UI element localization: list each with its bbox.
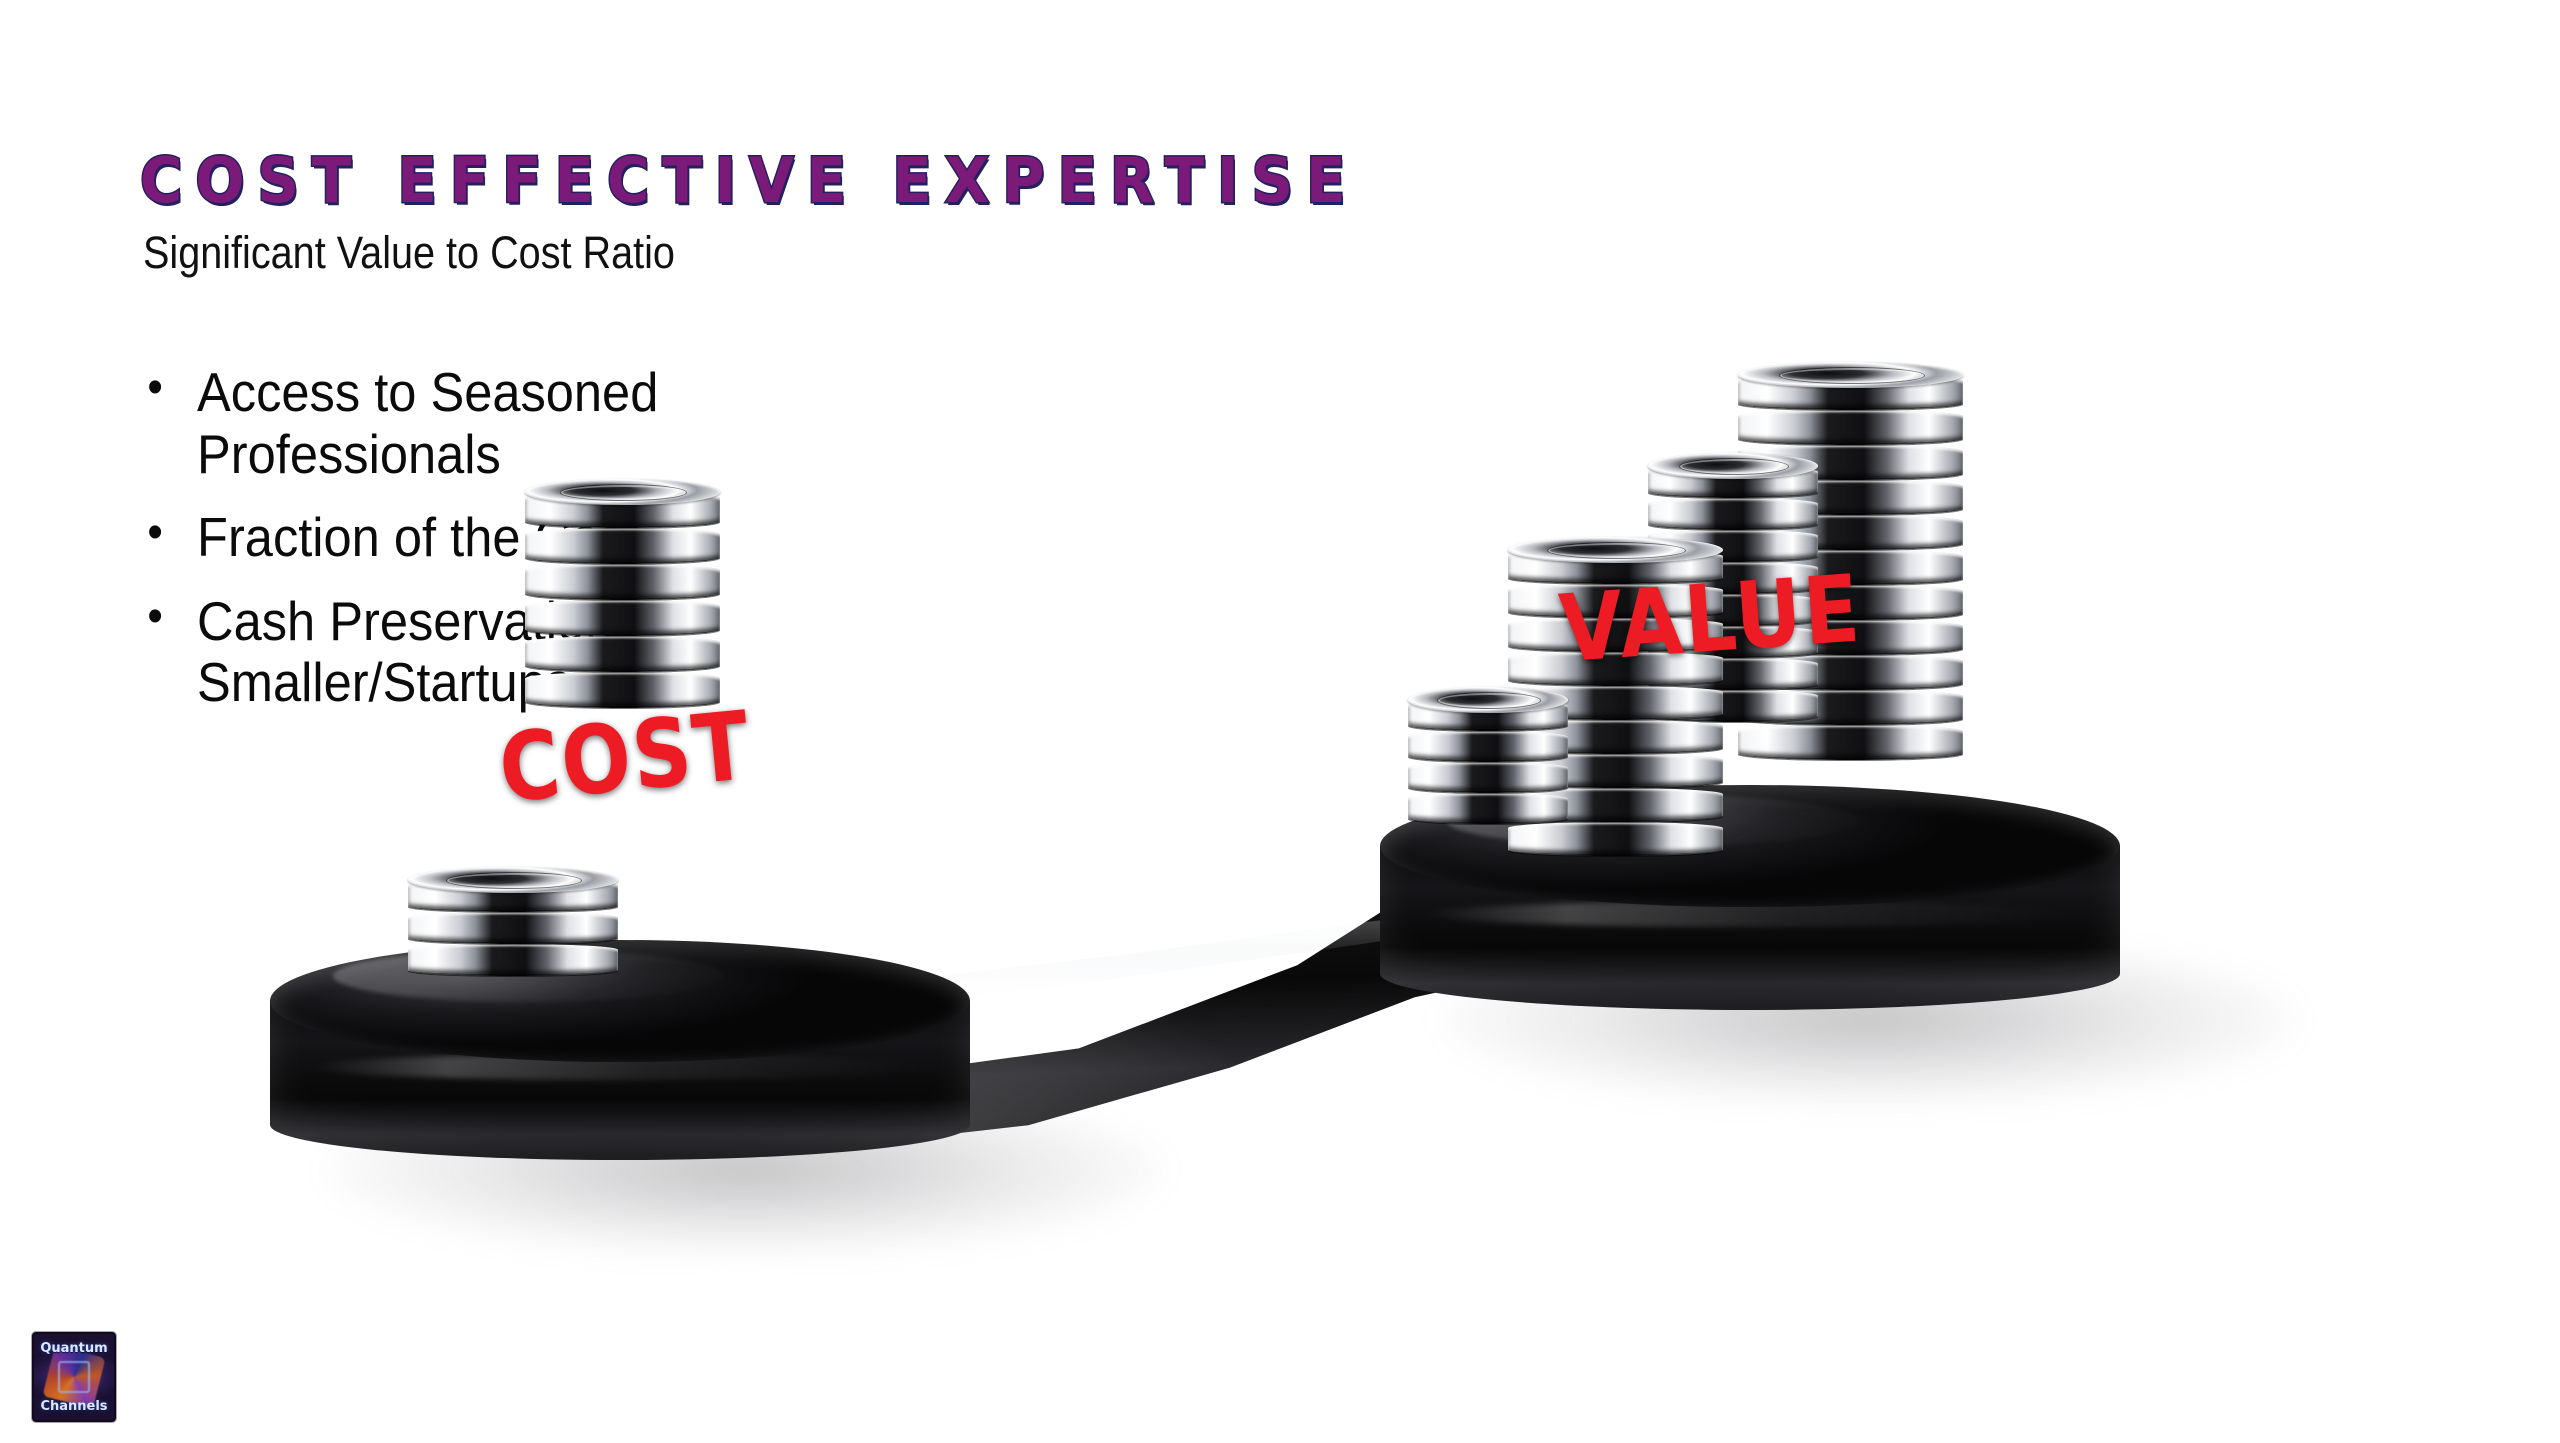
coin xyxy=(525,600,720,636)
coin-top-face xyxy=(1738,362,1963,388)
coin xyxy=(1738,375,1963,410)
coin xyxy=(1738,725,1963,760)
coin xyxy=(525,492,720,528)
page-title: COST EFFECTIVE EXPERTISE xyxy=(140,150,1358,212)
coin xyxy=(1408,700,1568,731)
coin xyxy=(1648,498,1818,530)
coin-stack-cost-front xyxy=(408,880,618,976)
value-label: VALUE xyxy=(1556,555,1865,684)
coin xyxy=(525,564,720,600)
logo-text-line2: Channels xyxy=(34,1399,114,1414)
slide-canvas: COST EFFECTIVE EXPERTISE Significant Val… xyxy=(0,0,2560,1443)
logo-text-line1: Quantum xyxy=(34,1341,114,1356)
coin-top-face xyxy=(1508,537,1723,563)
coin-stack-cost-back xyxy=(525,492,720,708)
coin xyxy=(1408,762,1568,793)
coin xyxy=(408,912,618,944)
coin-top-face xyxy=(525,479,720,505)
coin xyxy=(525,528,720,564)
coin-top-face xyxy=(1408,687,1568,713)
coin-top-face xyxy=(1648,453,1818,479)
coin xyxy=(1738,410,1963,445)
coin xyxy=(1408,731,1568,762)
value-pan xyxy=(1380,785,2120,1045)
coin xyxy=(1648,466,1818,498)
coin xyxy=(1508,822,1723,856)
coin-stack-value-1 xyxy=(1408,700,1568,824)
coin xyxy=(1408,793,1568,824)
cost-pan-top xyxy=(270,940,970,1062)
slide-subtitle: Significant Value to Cost Ratio xyxy=(143,228,675,278)
cost-label: COST xyxy=(495,691,756,825)
coin-top-face xyxy=(408,867,618,893)
cost-pan xyxy=(270,940,970,1200)
coin xyxy=(525,636,720,672)
coin xyxy=(408,880,618,912)
quantum-channels-logo[interactable]: Quantum Channels xyxy=(32,1332,116,1422)
coin xyxy=(408,944,618,976)
balance-scale-illustration: COST xyxy=(380,380,2380,1380)
